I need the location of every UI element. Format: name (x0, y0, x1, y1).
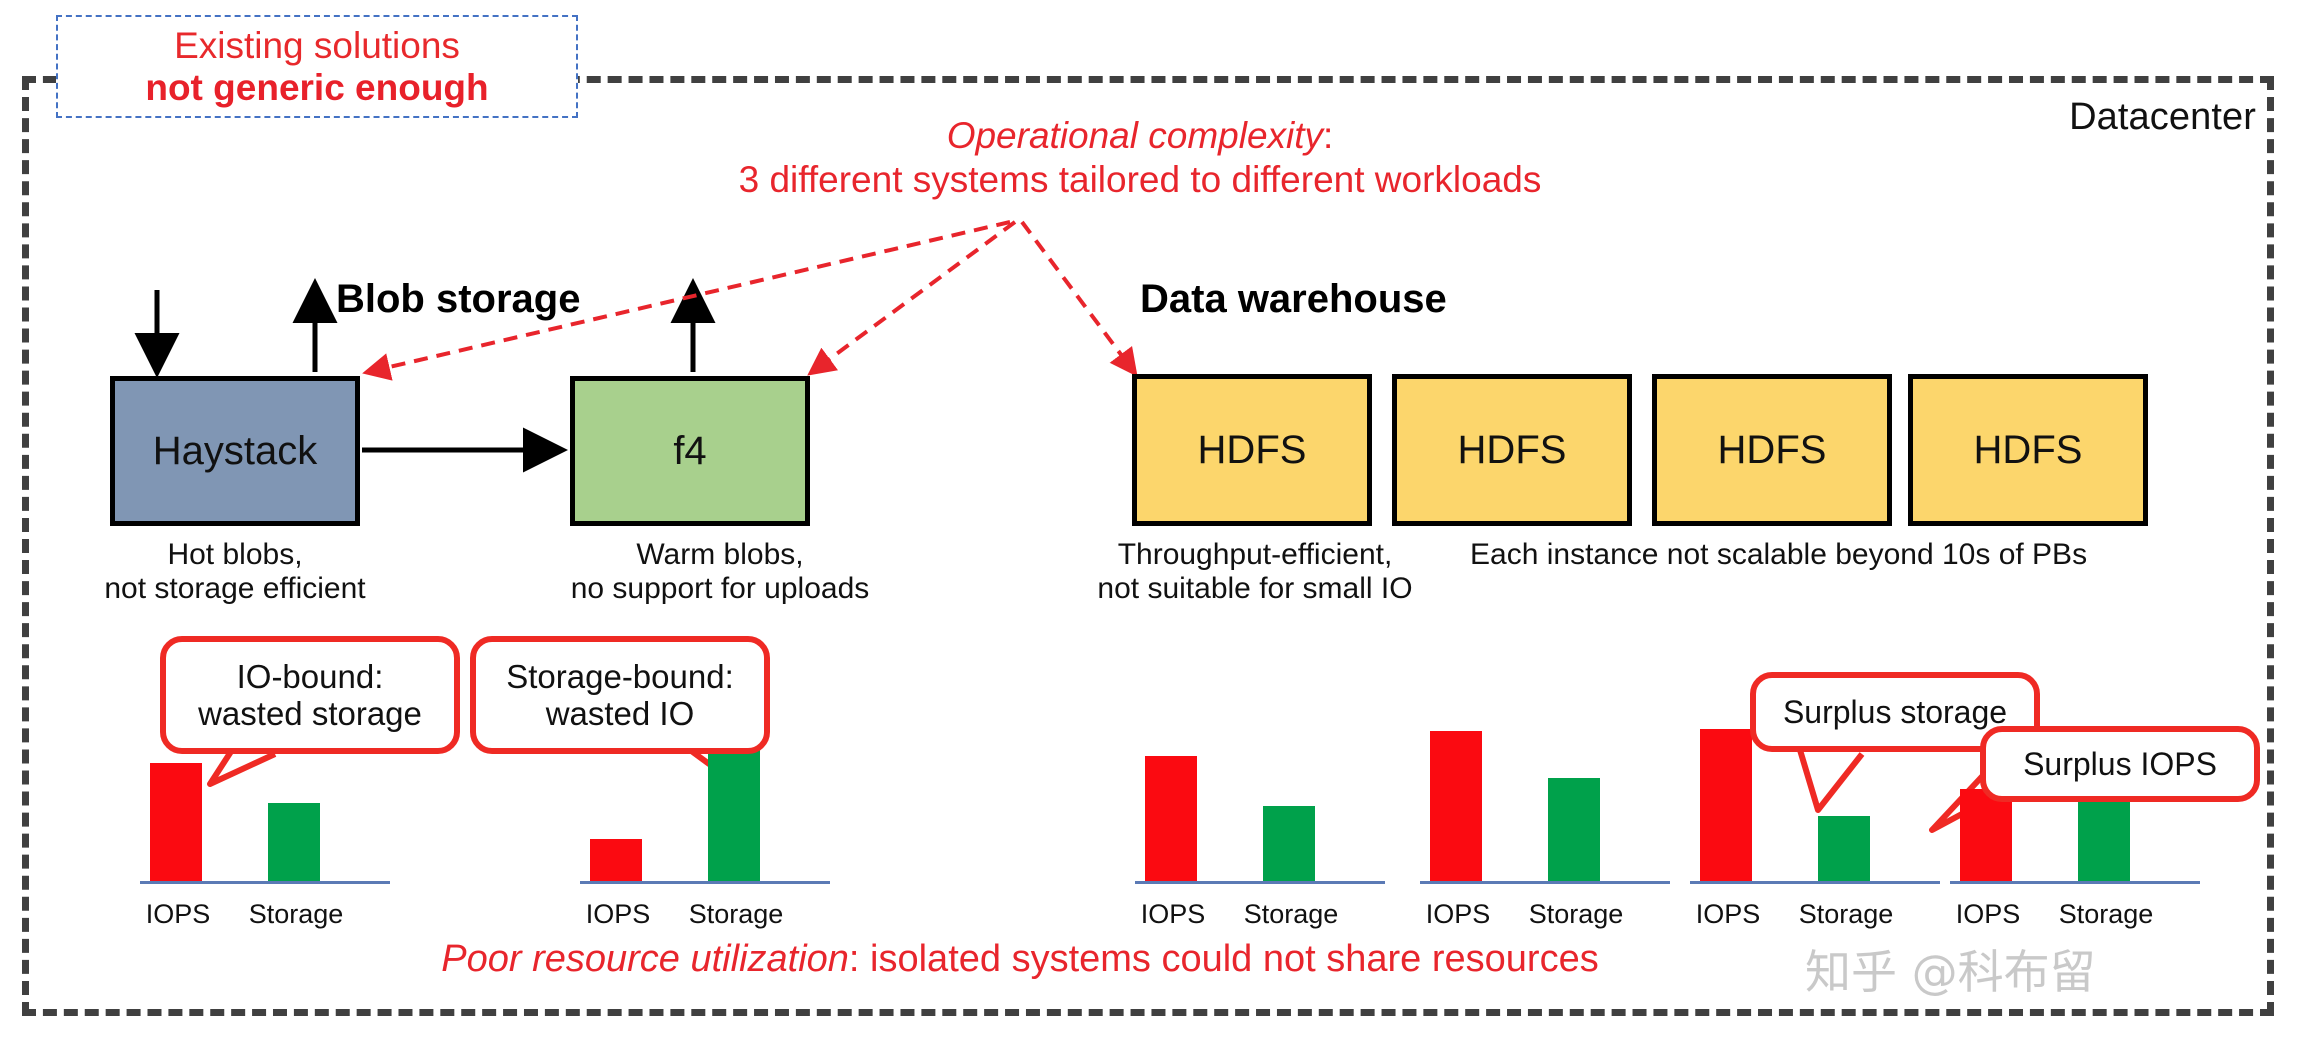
bar-label-iops: IOPS (1928, 899, 2048, 930)
bar-label-iops: IOPS (1113, 899, 1233, 930)
bar-iops (1145, 756, 1197, 881)
existing-solutions-callout: Existing solutions not generic enough (56, 15, 578, 118)
existing-solutions-line2: not generic enough (145, 67, 488, 108)
bottom-note: Poor resource utilization: isolated syst… (260, 938, 1780, 981)
operational-complexity-line1: Operational complexity: (640, 114, 1640, 158)
chart-axis (140, 881, 390, 884)
bar-storage (1548, 778, 1600, 881)
chart-axis (1690, 881, 1940, 884)
storage-box-hdfs-1[interactable]: HDFS (1132, 374, 1372, 526)
caption-f4: Warm blobs, no support for uploads (520, 538, 920, 605)
bar-chart-hdfs-1: IOPS Storage (1135, 730, 1385, 930)
slide-canvas: Datacenter Existing solutions not generi… (0, 0, 2304, 1054)
watermark: 知乎 @科布留 (1805, 936, 2096, 1002)
operational-complexity-colon: : (1323, 115, 1333, 156)
bar-iops (590, 839, 642, 881)
storage-box-hdfs-3[interactable]: HDFS (1652, 374, 1892, 526)
bar-label-iops: IOPS (1398, 899, 1518, 930)
storage-box-hdfs-4[interactable]: HDFS (1908, 374, 2148, 526)
bar-label-storage: Storage (1231, 899, 1351, 930)
storage-box-hdfs-4-label: HDFS (1974, 428, 2083, 473)
bottom-note-emph: Poor resource utilization (441, 938, 849, 980)
chart-axis (1950, 881, 2200, 884)
bar-chart-haystack: IOPS Storage (140, 730, 390, 930)
chart-axis (1420, 881, 1670, 884)
bar-label-storage: Storage (676, 899, 796, 930)
bar-label-iops: IOPS (1668, 899, 1788, 930)
callout-io-bound: IO-bound: wasted storage (160, 636, 460, 754)
storage-box-hdfs-2-label: HDFS (1458, 428, 1567, 473)
bar-chart-hdfs-3: IOPS Storage (1690, 730, 1940, 930)
bar-label-iops: IOPS (558, 899, 678, 930)
callout-storage-bound: Storage-bound: wasted IO (470, 636, 770, 754)
storage-box-f4[interactable]: f4 (570, 376, 810, 526)
storage-box-hdfs-3-label: HDFS (1718, 428, 1827, 473)
chart-axis (580, 881, 830, 884)
bar-label-storage: Storage (1786, 899, 1906, 930)
bar-label-storage: Storage (1516, 899, 1636, 930)
operational-complexity-line2: 3 different systems tailored to differen… (640, 158, 1640, 202)
caption-hdfs-scalability: Each instance not scalable beyond 10s of… (1470, 538, 2300, 572)
bar-label-storage: Storage (236, 899, 356, 930)
chart-axis (1135, 881, 1385, 884)
storage-box-haystack[interactable]: Haystack (110, 376, 360, 526)
bar-iops (150, 763, 202, 881)
storage-box-haystack-label: Haystack (153, 429, 318, 474)
bar-label-storage: Storage (2046, 899, 2166, 930)
caption-haystack: Hot blobs, not storage efficient (40, 538, 430, 605)
bar-iops (1960, 789, 2012, 881)
section-heading-data-warehouse: Data warehouse (1140, 277, 1447, 322)
bar-storage (708, 733, 760, 881)
existing-solutions-line1: Existing solutions (174, 25, 460, 66)
callout-surplus-iops: Surplus IOPS (1980, 726, 2260, 802)
bar-iops (1700, 729, 1752, 881)
bottom-note-rest: : isolated systems could not share resou… (849, 938, 1599, 980)
operational-complexity-note: Operational complexity: 3 different syst… (640, 114, 1640, 201)
bar-iops (1430, 731, 1482, 881)
caption-hdfs-throughput: Throughput-efficient, not suitable for s… (1060, 538, 1450, 605)
bar-storage (1263, 806, 1315, 881)
storage-box-hdfs-1-label: HDFS (1198, 428, 1307, 473)
operational-complexity-emph: Operational complexity (947, 115, 1323, 156)
datacenter-label: Datacenter (2069, 96, 2256, 139)
bar-chart-hdfs-2: IOPS Storage (1420, 730, 1670, 930)
storage-box-hdfs-2[interactable]: HDFS (1392, 374, 1632, 526)
storage-box-f4-label: f4 (673, 429, 706, 474)
section-heading-blob-storage: Blob storage (336, 277, 580, 322)
bar-storage (1818, 816, 1870, 881)
bar-storage (268, 803, 320, 881)
bar-chart-f4: IOPS Storage (580, 730, 830, 930)
bar-label-iops: IOPS (118, 899, 238, 930)
